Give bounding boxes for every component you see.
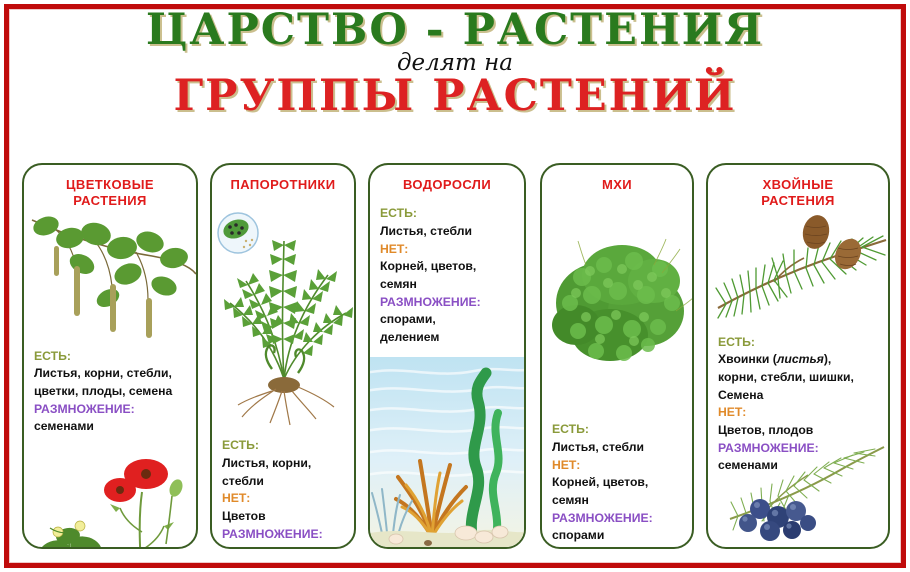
label-have: ЕСТЬ: <box>552 421 682 439</box>
card-title-conifers: ХВОЙНЫЕ РАСТЕНИЯ <box>708 165 888 210</box>
value-have-line: Листья, корни, стебли, <box>34 365 186 383</box>
pine-branch-with-cones-illustration <box>708 212 888 330</box>
card-title-line: ЦВЕТКОВЫЕ <box>30 177 190 193</box>
facts-algae: ЕСТЬ: Листья, стебли НЕТ: Корней, цветов… <box>370 205 524 347</box>
card-title-line: ВОДОРОСЛИ <box>376 177 518 193</box>
label-reproduction: РАЗМНОЖЕНИЕ: <box>380 294 514 312</box>
poster-title-block: ЦАРСТВО - РАСТЕНИЯ делят на ГРУППЫ РАСТЕ… <box>0 8 910 120</box>
label-have: ЕСТЬ: <box>380 205 514 223</box>
value-have-line: цветки, плоды, семена <box>34 383 186 401</box>
value-reproduction-line: спорами <box>552 527 682 545</box>
card-title-mosses: МХИ <box>542 165 692 193</box>
birch-branch-illustration <box>24 212 196 344</box>
label-none: НЕТ: <box>718 404 878 422</box>
card-title-line: ПАПОРОТНИКИ <box>218 177 348 193</box>
card-title-line: МХИ <box>548 177 686 193</box>
value-have-italic-word: листья <box>777 352 824 366</box>
card-ferns[interactable]: ПАПОРОТНИКИ <box>210 163 356 549</box>
label-none: НЕТ: <box>552 457 682 475</box>
card-conifers[interactable]: ХВОЙНЫЕ РАСТЕНИЯ <box>706 163 890 549</box>
poppy-and-strawberry-illustration <box>24 440 196 549</box>
value-none-line: Цветов <box>222 508 344 526</box>
card-title-ferns: ПАПОРОТНИКИ <box>212 165 354 193</box>
label-none: НЕТ: <box>222 490 344 508</box>
label-reproduction: РАЗМНОЖЕНИЕ: <box>222 526 344 544</box>
label-none: НЕТ: <box>380 241 514 259</box>
fern-illustration <box>212 197 354 427</box>
value-reproduction-line: делением <box>380 329 514 347</box>
label-have: ЕСТЬ: <box>222 437 344 455</box>
value-reproduction-line: семенами <box>34 418 186 436</box>
facts-ferns: ЕСТЬ: Листья, корни, стебли НЕТ: Цветов … <box>212 437 354 549</box>
label-reproduction: РАЗМНОЖЕНИЕ: <box>34 401 186 419</box>
card-title-line: ХВОЙНЫЕ <box>714 177 882 193</box>
card-title-line: РАСТЕНИЯ <box>30 193 190 209</box>
facts-mosses: ЕСТЬ: Листья, стебли НЕТ: Корней, цветов… <box>542 421 692 545</box>
page-subtitle: ГРУППЫ РАСТЕНИЙ <box>0 74 910 119</box>
moss-cushion-illustration <box>542 207 692 407</box>
value-have-line: корни, стебли, шишки, <box>718 369 878 387</box>
card-mosses[interactable]: МХИ <box>540 163 694 549</box>
poster-root: ЦАРСТВО - РАСТЕНИЯ делят на ГРУППЫ РАСТЕ… <box>0 0 910 572</box>
juniper-berries-illustration <box>708 435 888 543</box>
card-title-flowering-plants: ЦВЕТКОВЫЕ РАСТЕНИЯ <box>24 165 196 210</box>
plant-group-cards: ЦВЕТКОВЫЕ РАСТЕНИЯ <box>22 163 890 549</box>
value-have-line: Листья, стебли <box>380 223 514 241</box>
label-reproduction: РАЗМНОЖЕНИЕ: <box>552 510 682 528</box>
card-title-algae: ВОДОРОСЛИ <box>370 165 524 193</box>
value-have-line-italic: Хвоинки (листья), <box>718 351 878 369</box>
value-reproduction-line: спорами <box>222 543 344 549</box>
card-title-line: РАСТЕНИЯ <box>714 193 882 209</box>
value-have-line: Листья, корни, стебли <box>222 455 344 490</box>
value-reproduction-line: спорами, <box>380 311 514 329</box>
page-title: ЦАРСТВО - РАСТЕНИЯ <box>0 8 910 53</box>
label-have: ЕСТЬ: <box>718 334 878 352</box>
card-algae[interactable]: ВОДОРОСЛИ ЕСТЬ: Листья, стебли НЕТ: Корн… <box>368 163 526 549</box>
value-have-line: Листья, стебли <box>552 439 682 457</box>
facts-flowering-plants: ЕСТЬ: Листья, корни, стебли, цветки, пло… <box>24 348 196 436</box>
underwater-seaweed-illustration <box>370 357 524 547</box>
value-have-line: Семена <box>718 387 878 405</box>
value-none-line: Корней, цветов, семян <box>552 474 682 509</box>
label-have: ЕСТЬ: <box>34 348 186 366</box>
value-none-line: Корней, цветов, семян <box>380 258 514 293</box>
card-flowering-plants[interactable]: ЦВЕТКОВЫЕ РАСТЕНИЯ <box>22 163 198 549</box>
